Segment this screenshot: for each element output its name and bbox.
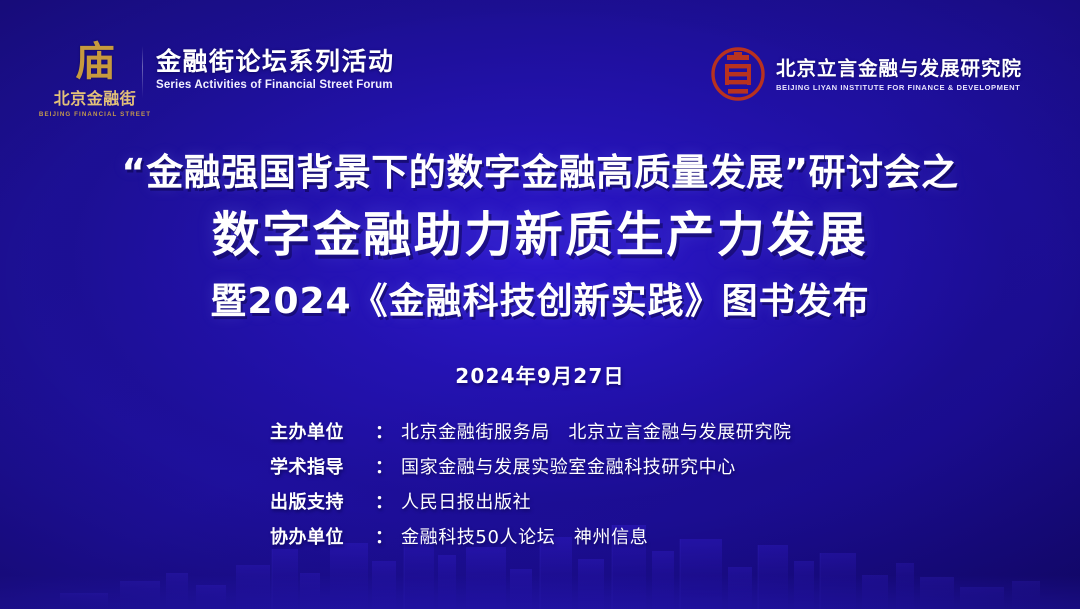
credit-label: 出版支持 [270, 488, 375, 514]
logo-beijing-liyan-institute: 北京立言金融与发展研究院 BEIJING LIYAN INSTITUTE FOR… [710, 46, 1022, 102]
event-date: 2024年9月27日 [0, 360, 1080, 389]
credit-colon: ： [375, 488, 393, 514]
credit-colon: ： [375, 453, 393, 479]
credit-row: 学术指导 ： 国家金融与发展实验室金融科技研究中心 [270, 453, 810, 479]
liyan-org-name-en: BEIJING LIYAN INSTITUTE FOR FINANCE & DE… [776, 83, 1022, 92]
logo-beijing-financial-street: 庙 北京金融街 BEIJING FINANCIAL STREET 金融街论坛系列… [62, 42, 395, 122]
poster-title-line-2: 数字金融助力新质生产力发展 [0, 207, 1080, 264]
ground-glow-decoration [0, 575, 1080, 609]
credit-label: 协办单位 [270, 523, 375, 549]
forum-title-en: Series Activities of Financial Street Fo… [156, 79, 395, 91]
liyan-text-group: 北京立言金融与发展研究院 BEIJING LIYAN INSTITUTE FOR… [776, 56, 1022, 92]
credit-label: 主办单位 [270, 418, 375, 444]
header-logos: 庙 北京金融街 BEIJING FINANCIAL STREET 金融街论坛系列… [0, 0, 1080, 130]
credit-value: 国家金融与发展实验室金融科技研究中心 [401, 453, 810, 479]
credit-value: 金融科技50人论坛 神州信息 [401, 523, 810, 549]
poster-title-line-3: 暨2024《金融科技创新实践》图书发布 [0, 280, 1080, 323]
bjfs-org-name-en: BEIJING FINANCIAL STREET [39, 111, 151, 118]
credit-value: 北京金融街服务局 北京立言金融与发展研究院 [401, 418, 810, 444]
credits-list: 主办单位 ： 北京金融街服务局 北京立言金融与发展研究院 学术指导 ： 国家金融… [0, 418, 1080, 549]
credit-value: 人民日报出版社 [401, 488, 810, 514]
credit-row: 协办单位 ： 金融科技50人论坛 神州信息 [270, 523, 810, 549]
forum-title-cn: 金融街论坛系列活动 [156, 48, 395, 76]
poster-title-line-1: “金融强国背景下的数字金融高质量发展”研讨会之 [0, 150, 1080, 195]
gate-tower-icon: 庙 [75, 42, 115, 82]
credit-colon: ： [375, 523, 393, 549]
liyan-seal-icon [710, 46, 766, 102]
beijing-financial-street-mark: 庙 北京金融街 BEIJING FINANCIAL STREET [62, 42, 128, 122]
credit-colon: ： [375, 418, 393, 444]
credit-row: 主办单位 ： 北京金融街服务局 北京立言金融与发展研究院 [270, 418, 810, 444]
poster-title-block: “金融强国背景下的数字金融高质量发展”研讨会之 数字金融助力新质生产力发展 暨2… [0, 150, 1080, 323]
liyan-org-name-cn: 北京立言金融与发展研究院 [776, 58, 1022, 80]
credit-row: 出版支持 ： 人民日报出版社 [270, 488, 810, 514]
conference-poster: 庙 北京金融街 BEIJING FINANCIAL STREET 金融街论坛系列… [0, 0, 1080, 609]
bjfs-org-name-cn: 北京金融街 [54, 85, 137, 109]
logo-divider [142, 46, 143, 98]
forum-title-group: 金融街论坛系列活动 Series Activities of Financial… [156, 42, 395, 91]
credit-label: 学术指导 [270, 453, 375, 479]
